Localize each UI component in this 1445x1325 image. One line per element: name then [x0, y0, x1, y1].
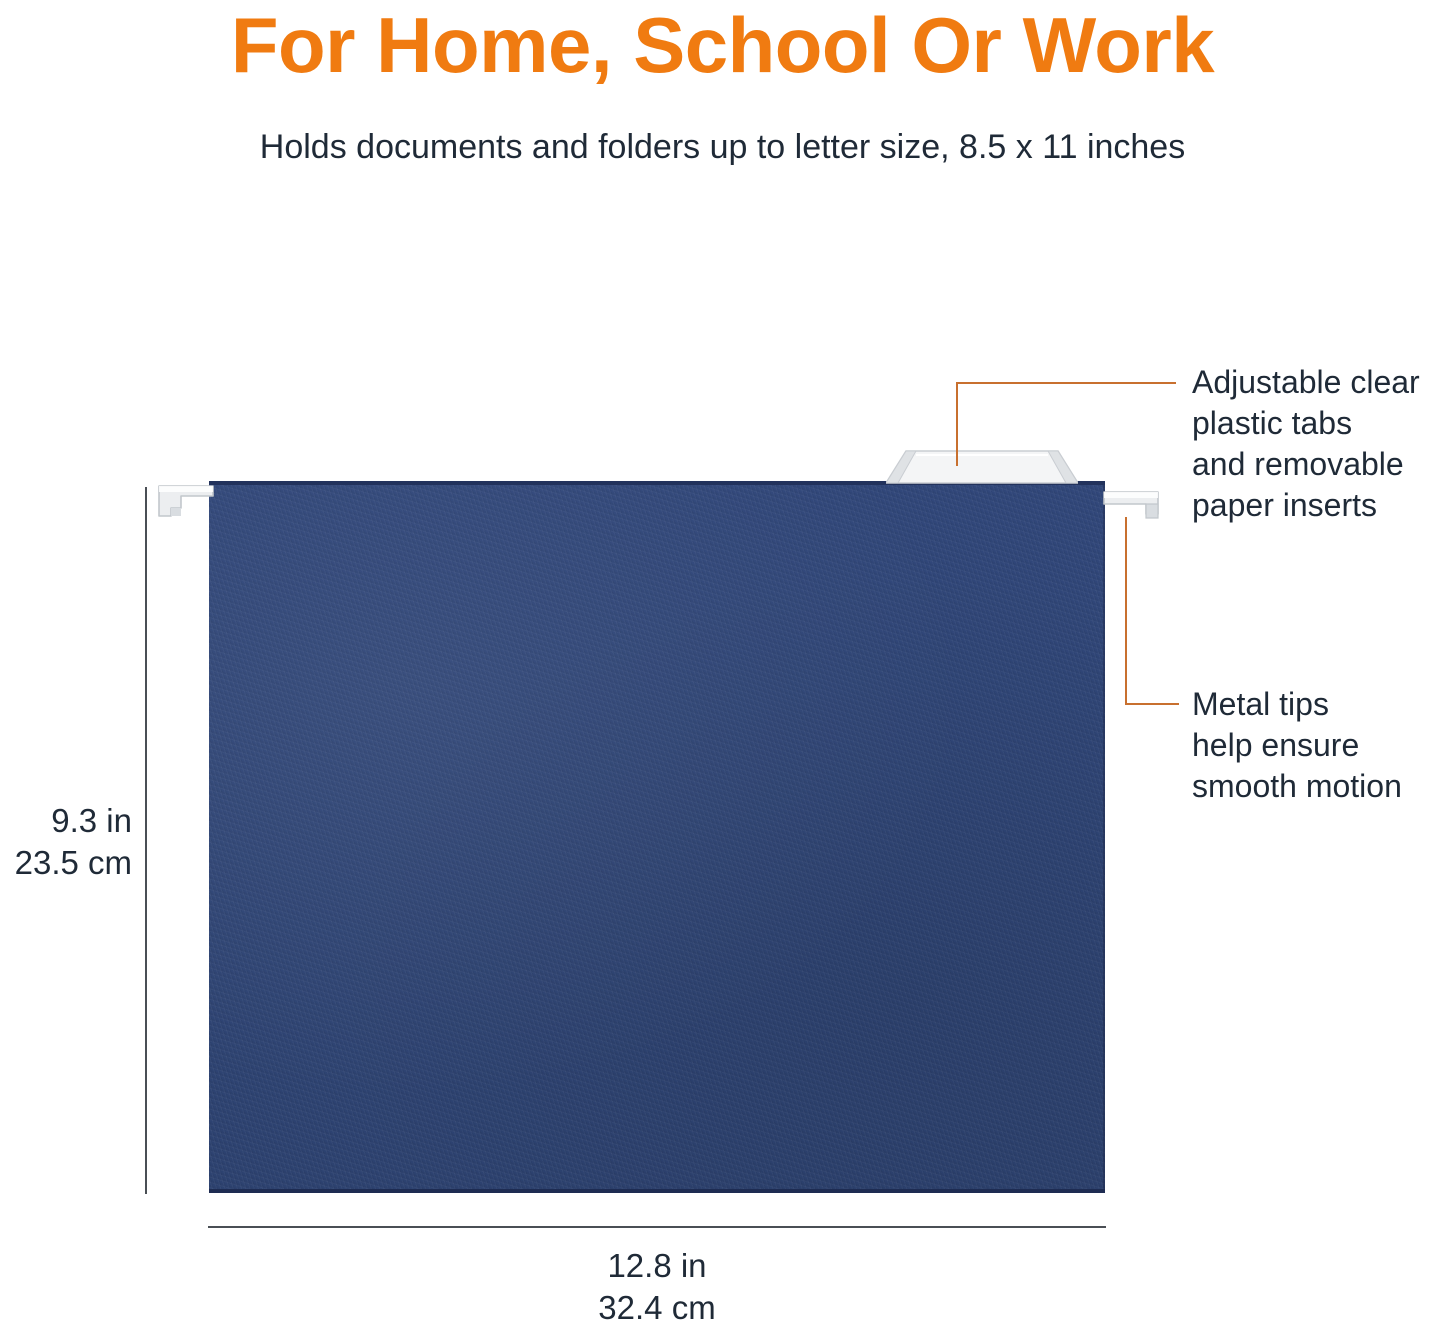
callout-leader-line-metal-tips-vertical	[1125, 517, 1127, 705]
folder-bottom-edge	[209, 1189, 1105, 1193]
dimension-label-height: 9.3 in 23.5 cm	[0, 800, 132, 884]
metal-tip-hook-right-icon	[1100, 488, 1162, 526]
callout-leader-line-metal-tips-horizontal	[1125, 703, 1179, 705]
hanging-file-folder-body	[209, 481, 1105, 1193]
callout-label-metal-tips: Metal tips help ensure smooth motion	[1192, 684, 1445, 807]
page-title: For Home, School Or Work	[0, 2, 1445, 88]
page-subtitle: Holds documents and folders up to letter…	[0, 126, 1445, 168]
dimension-label-width: 12.8 in 32.4 cm	[208, 1245, 1106, 1325]
metal-tip-hook-left-icon	[155, 482, 217, 520]
dimension-line-height	[145, 487, 147, 1194]
dimension-line-width	[208, 1226, 1106, 1228]
callout-leader-line-plastic-tabs-vertical	[956, 382, 958, 466]
clear-plastic-tab-icon	[886, 449, 1078, 485]
product-infographic: For Home, School Or Work Holds documents…	[0, 0, 1445, 1325]
callout-leader-line-plastic-tabs-horizontal	[956, 382, 1176, 384]
callout-label-plastic-tabs: Adjustable clear plastic tabs and remova…	[1192, 362, 1445, 526]
